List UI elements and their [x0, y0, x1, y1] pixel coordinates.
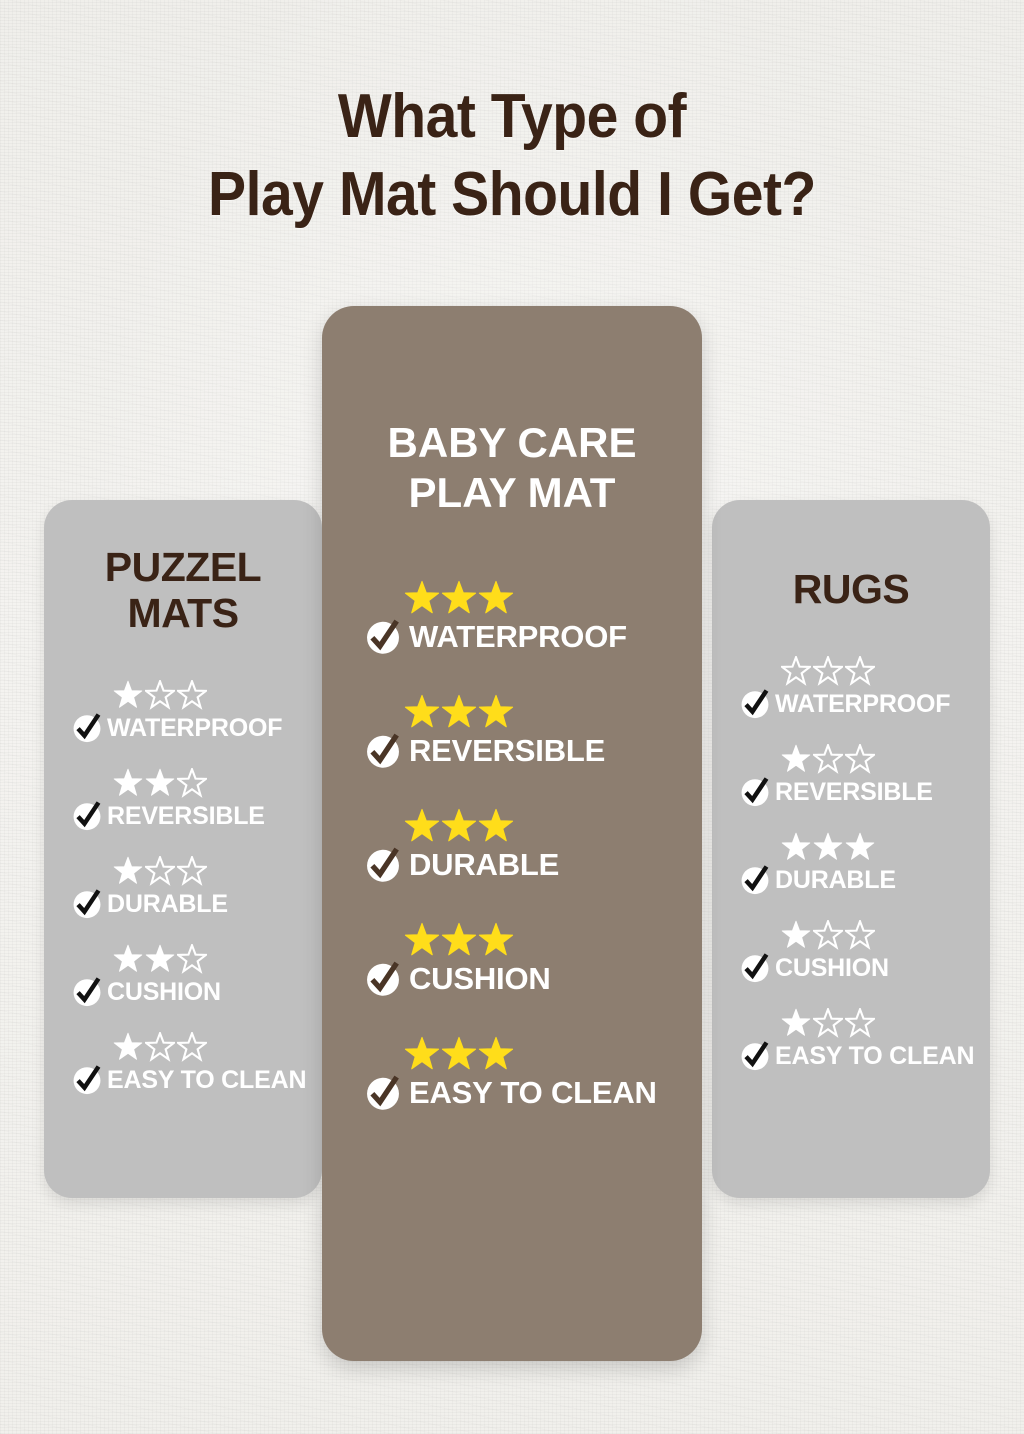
feature-row: WATERPROOF	[739, 656, 990, 720]
star-rating	[781, 832, 990, 862]
card-heading-line-1: BABY CARE	[388, 419, 637, 466]
feature-label-row: EASY TO CLEAN	[739, 1040, 990, 1072]
card-heading-line-1: PUZZEL	[105, 544, 261, 590]
feature-list-rugs: WATERPROOFREVERSIBLEDURABLECUSHIONEASY T…	[712, 656, 990, 1072]
star-filled-icon	[404, 580, 440, 616]
star-outline-icon	[813, 744, 843, 774]
star-filled-icon	[478, 922, 514, 958]
star-outline-icon	[177, 680, 207, 710]
star-rating	[113, 768, 322, 798]
star-outline-icon	[813, 656, 843, 686]
card-rugs[interactable]: RUGS WATERPROOFREVERSIBLEDURABLECUSHIONE…	[712, 500, 990, 1198]
feature-row: WATERPROOF	[364, 580, 702, 656]
star-rating	[113, 680, 322, 710]
check-icon	[364, 732, 402, 770]
feature-label: EASY TO CLEAN	[409, 1074, 657, 1112]
feature-label: WATERPROOF	[775, 689, 950, 719]
card-puzzel-mats[interactable]: PUZZEL MATS WATERPROOFREVERSIBLEDURABLEC…	[44, 500, 322, 1198]
star-filled-icon	[441, 694, 477, 730]
check-icon	[739, 1040, 771, 1072]
feature-label: WATERPROOF	[409, 618, 627, 656]
check-icon	[739, 688, 771, 720]
star-rating	[113, 856, 322, 886]
star-outline-icon	[145, 856, 175, 886]
star-filled-icon	[113, 680, 143, 710]
feature-label-row: EASY TO CLEAN	[364, 1074, 702, 1112]
feature-list-puzzel-mats: WATERPROOFREVERSIBLEDURABLECUSHIONEASY T…	[44, 680, 322, 1096]
card-heading-line-2: MATS	[127, 590, 238, 636]
star-outline-icon	[845, 656, 875, 686]
star-filled-icon	[845, 832, 875, 862]
star-outline-icon	[845, 744, 875, 774]
star-rating	[781, 656, 990, 686]
check-icon	[364, 846, 402, 884]
star-rating	[781, 1008, 990, 1038]
feature-label-row: DURABLE	[364, 846, 702, 884]
check-icon	[71, 800, 103, 832]
check-icon	[739, 952, 771, 984]
star-filled-icon	[145, 768, 175, 798]
star-rating	[404, 808, 702, 844]
feature-label-row: EASY TO CLEAN	[71, 1064, 322, 1096]
star-outline-icon	[845, 1008, 875, 1038]
star-outline-icon	[177, 768, 207, 798]
check-icon	[71, 1064, 103, 1096]
star-filled-icon	[478, 580, 514, 616]
feature-row: DURABLE	[364, 808, 702, 884]
check-icon	[739, 776, 771, 808]
star-outline-icon	[145, 680, 175, 710]
feature-row: REVERSIBLE	[364, 694, 702, 770]
star-filled-icon	[441, 1036, 477, 1072]
feature-row: EASY TO CLEAN	[71, 1032, 322, 1096]
feature-label-row: WATERPROOF	[364, 618, 702, 656]
star-outline-icon	[145, 1032, 175, 1062]
star-filled-icon	[113, 944, 143, 974]
star-filled-icon	[781, 920, 811, 950]
card-baby-care-play-mat[interactable]: BABY CARE PLAY MAT WATERPROOFREVERSIBLED…	[322, 306, 702, 1361]
star-rating	[113, 1032, 322, 1062]
star-filled-icon	[113, 768, 143, 798]
card-heading-baby-care-play-mat: BABY CARE PLAY MAT	[322, 418, 702, 518]
star-outline-icon	[177, 944, 207, 974]
card-heading-line-2: PLAY MAT	[409, 469, 616, 516]
star-filled-icon	[113, 1032, 143, 1062]
feature-row: CUSHION	[739, 920, 990, 984]
star-rating	[404, 922, 702, 958]
feature-row: REVERSIBLE	[739, 744, 990, 808]
star-filled-icon	[404, 808, 440, 844]
page-title-line-1: What Type of	[41, 78, 983, 156]
feature-label-row: CUSHION	[739, 952, 990, 984]
star-outline-icon	[177, 1032, 207, 1062]
check-icon	[71, 712, 103, 744]
feature-label-row: WATERPROOF	[71, 712, 322, 744]
star-filled-icon	[404, 1036, 440, 1072]
star-filled-icon	[145, 944, 175, 974]
feature-label: WATERPROOF	[107, 713, 282, 743]
feature-row: REVERSIBLE	[71, 768, 322, 832]
feature-row: CUSHION	[364, 922, 702, 998]
star-outline-icon	[813, 1008, 843, 1038]
feature-label-row: CUSHION	[364, 960, 702, 998]
page-title: What Type of Play Mat Should I Get?	[0, 78, 1024, 234]
feature-label-row: REVERSIBLE	[364, 732, 702, 770]
feature-row: CUSHION	[71, 944, 322, 1008]
star-filled-icon	[478, 808, 514, 844]
feature-label: REVERSIBLE	[775, 777, 933, 807]
star-outline-icon	[813, 920, 843, 950]
feature-label: CUSHION	[775, 953, 889, 983]
star-rating	[113, 944, 322, 974]
card-heading-rugs: RUGS	[712, 566, 990, 612]
feature-row: EASY TO CLEAN	[739, 1008, 990, 1072]
star-filled-icon	[113, 856, 143, 886]
feature-label: EASY TO CLEAN	[107, 1065, 306, 1095]
feature-label: DURABLE	[775, 865, 896, 895]
star-rating	[781, 744, 990, 774]
check-icon	[71, 888, 103, 920]
star-rating	[781, 920, 990, 950]
star-rating	[404, 580, 702, 616]
feature-label: CUSHION	[409, 960, 551, 998]
feature-label-row: CUSHION	[71, 976, 322, 1008]
page-title-line-2: Play Mat Should I Get?	[41, 156, 983, 234]
feature-label: REVERSIBLE	[409, 732, 605, 770]
feature-label-row: WATERPROOF	[739, 688, 990, 720]
feature-label-row: REVERSIBLE	[71, 800, 322, 832]
feature-label: DURABLE	[409, 846, 559, 884]
star-outline-icon	[177, 856, 207, 886]
star-filled-icon	[441, 808, 477, 844]
check-icon	[739, 864, 771, 896]
star-rating	[404, 694, 702, 730]
check-icon	[364, 1074, 402, 1112]
feature-label-row: DURABLE	[71, 888, 322, 920]
star-filled-icon	[478, 1036, 514, 1072]
feature-label-row: DURABLE	[739, 864, 990, 896]
feature-label-row: REVERSIBLE	[739, 776, 990, 808]
star-filled-icon	[441, 580, 477, 616]
feature-label: EASY TO CLEAN	[775, 1041, 974, 1071]
check-icon	[71, 976, 103, 1008]
star-filled-icon	[813, 832, 843, 862]
card-heading-line-1: RUGS	[793, 566, 909, 612]
feature-label: REVERSIBLE	[107, 801, 265, 831]
feature-row: DURABLE	[71, 856, 322, 920]
star-filled-icon	[404, 922, 440, 958]
feature-label: CUSHION	[107, 977, 221, 1007]
card-heading-puzzel-mats: PUZZEL MATS	[44, 544, 322, 636]
feature-row: EASY TO CLEAN	[364, 1036, 702, 1112]
star-filled-icon	[781, 744, 811, 774]
star-filled-icon	[478, 694, 514, 730]
star-filled-icon	[441, 922, 477, 958]
star-filled-icon	[404, 694, 440, 730]
star-outline-icon	[845, 920, 875, 950]
star-filled-icon	[781, 1008, 811, 1038]
check-icon	[364, 618, 402, 656]
feature-label: DURABLE	[107, 889, 228, 919]
check-icon	[364, 960, 402, 998]
feature-row: DURABLE	[739, 832, 990, 896]
feature-list-baby-care-play-mat: WATERPROOFREVERSIBLEDURABLECUSHIONEASY T…	[322, 580, 702, 1112]
star-rating	[404, 1036, 702, 1072]
star-outline-icon	[781, 656, 811, 686]
star-filled-icon	[781, 832, 811, 862]
feature-row: WATERPROOF	[71, 680, 322, 744]
